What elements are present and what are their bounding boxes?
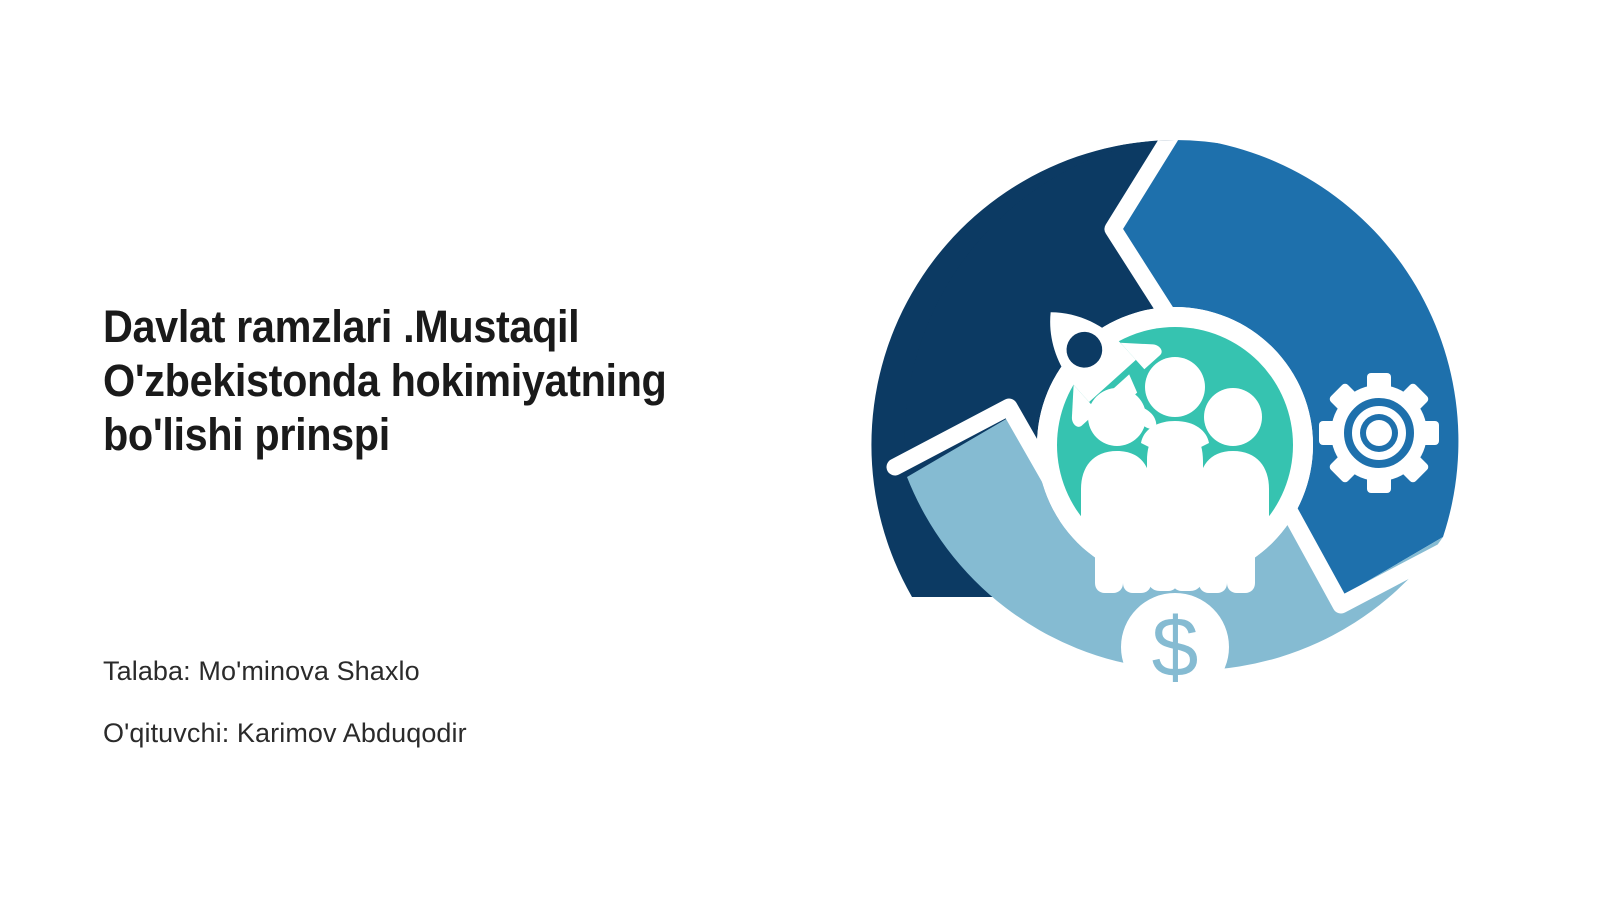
- gear-icon: [1319, 373, 1439, 493]
- presentation-slide: Davlat ramzlari .Mustaqil O'zbekistonda …: [0, 0, 1600, 900]
- credit-student: Talaba: Mo'minova Shaxlo: [103, 655, 743, 687]
- credits-block: Talaba: Mo'minova Shaxlo O'qituvchi: Kar…: [103, 655, 743, 749]
- credit-teacher: O'qituvchi: Karimov Abduqodir: [103, 717, 743, 749]
- dollar-coin-icon: $: [1121, 593, 1229, 701]
- title-block: Davlat ramzlari .Mustaqil O'zbekistonda …: [103, 300, 743, 462]
- people-group-icon: [1081, 357, 1269, 593]
- dollar-glyph: $: [1152, 600, 1199, 694]
- page-title: Davlat ramzlari .Mustaqil O'zbekistonda …: [103, 300, 692, 462]
- cycle-diagram: $: [855, 125, 1495, 765]
